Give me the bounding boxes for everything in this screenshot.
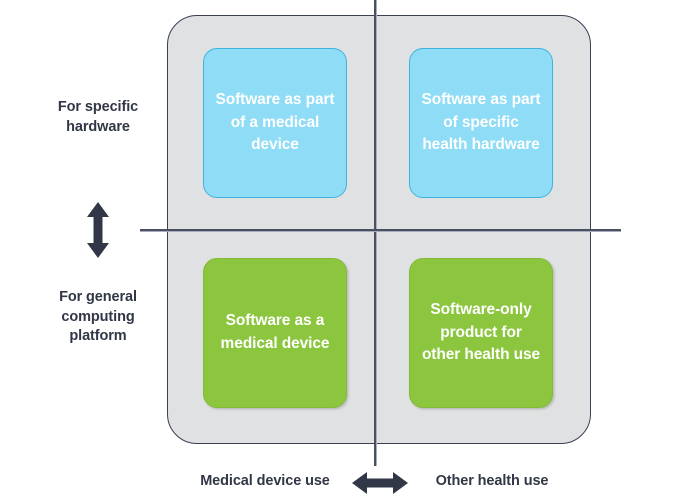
x-axis-right-label: Other health use [412,473,572,489]
quadrant-label-bottom-left: Software as a medical device [214,310,336,356]
quadrant-box-top-left[interactable]: Software as part of a medical device [203,48,347,198]
quadrant-label-top-left: Software as part of a medical device [214,89,336,158]
double-arrow-vertical-icon [85,202,111,258]
x-axis-left-label: Medical device use [185,473,345,489]
y-axis-top-label: For specific hardware [18,98,178,137]
axis-line-vertical [374,0,376,466]
y-axis-bottom-label: For general computing platform [18,288,178,347]
quadrant-diagram: Software as part of a medical device Sof… [0,0,680,500]
quadrant-label-top-right: Software as part of specific health hard… [420,89,542,158]
double-arrow-horizontal-icon [352,470,408,496]
quadrant-box-bottom-left[interactable]: Software as a medical device [203,258,347,408]
quadrant-box-bottom-right[interactable]: Software-only product for other health u… [409,258,553,408]
quadrant-box-top-right[interactable]: Software as part of specific health hard… [409,48,553,198]
axis-line-horizontal [140,229,621,231]
quadrant-label-bottom-right: Software-only product for other health u… [420,299,542,368]
